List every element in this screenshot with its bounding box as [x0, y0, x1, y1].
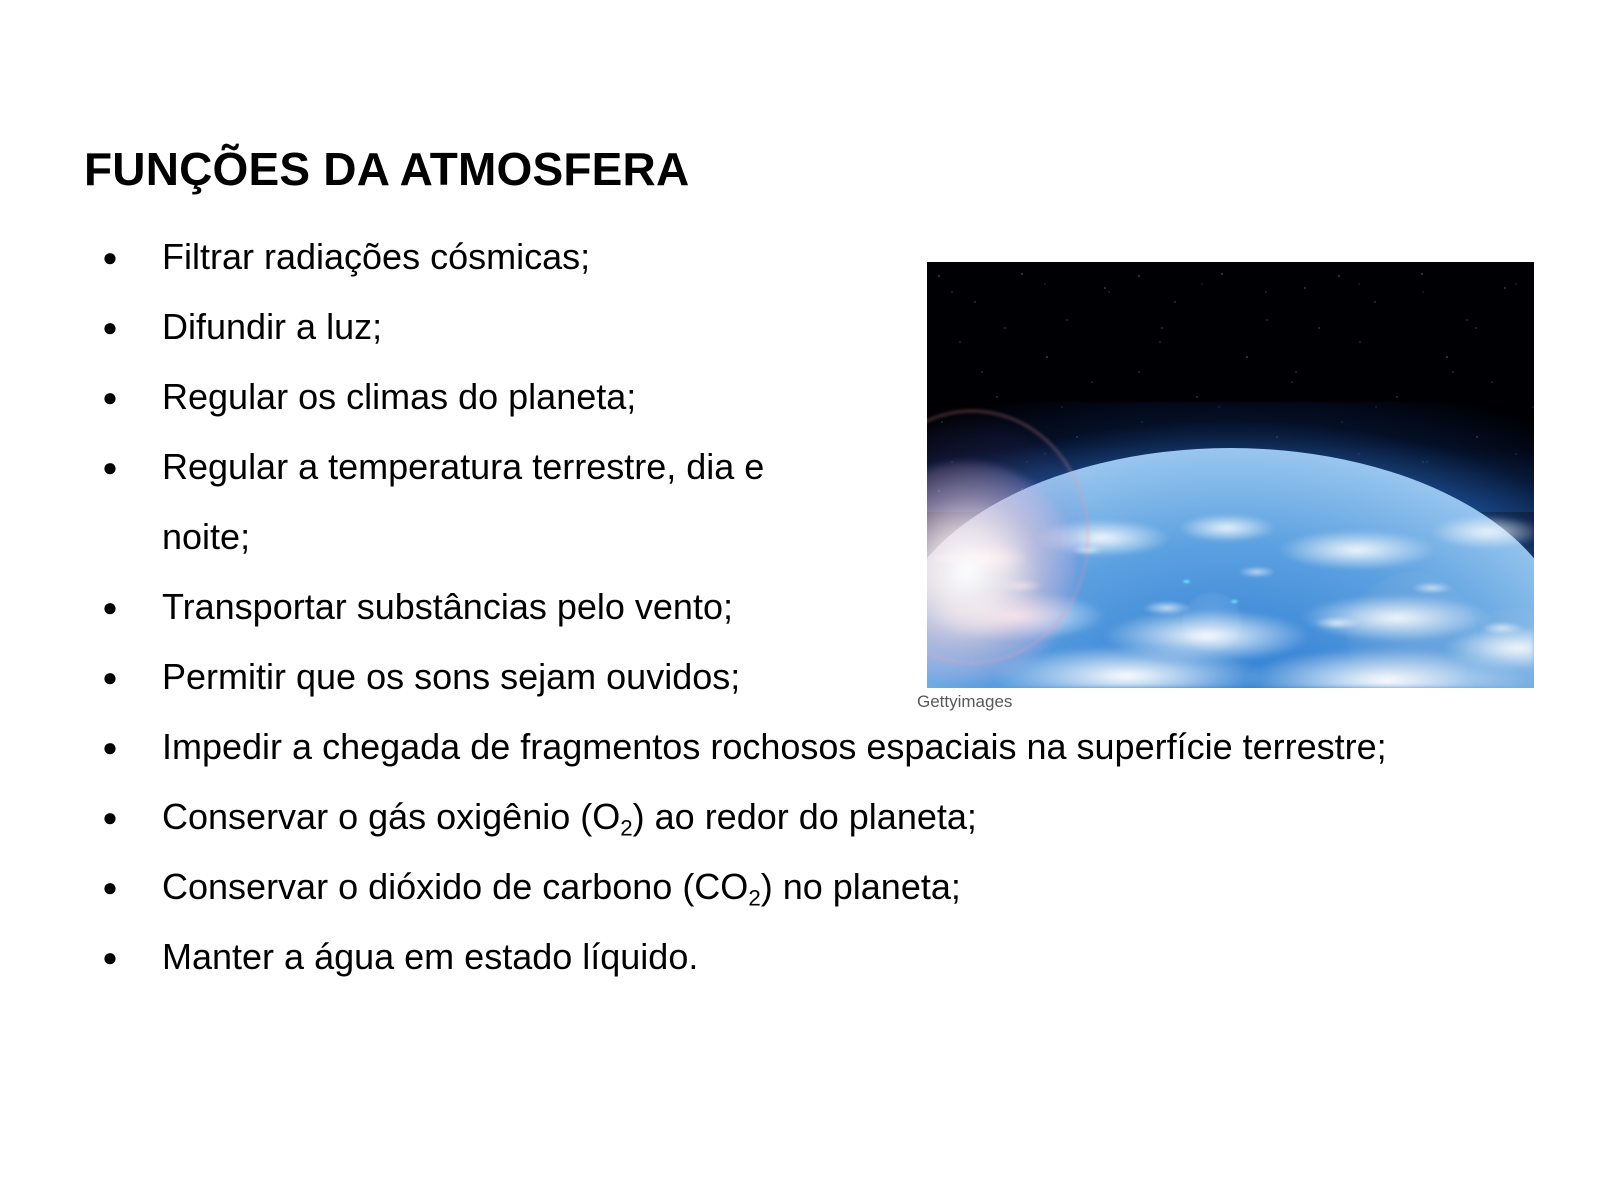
bullet-dot-icon: ●: [102, 432, 118, 502]
figure-caption: Gettyimages: [917, 692, 1012, 712]
bullet-dot-icon: ●: [102, 292, 118, 362]
page-title: FUNÇÕES DA ATMOSFERA: [84, 144, 689, 195]
bullet-dot-icon: ●: [102, 782, 118, 852]
list-item-label: Regular a temperatura terrestre, dia e n…: [162, 432, 862, 572]
bullet-dot-icon: ●: [102, 362, 118, 432]
bullet-dot-icon: ●: [102, 852, 118, 922]
list-item-label: Filtrar radiações cósmicas;: [162, 222, 862, 292]
list-item-label: Transportar substâncias pelo vento;: [162, 572, 802, 642]
list-item-label: Impedir a chegada de fragmentos rochosos…: [162, 712, 1416, 782]
figure-earth-atmosphere: Gettyimages: [927, 262, 1534, 688]
slide-canvas: FUNÇÕES DA ATMOSFERA ●Filtrar radiações …: [0, 0, 1600, 1200]
light-spark-1: [1183, 580, 1190, 583]
list-item-label: Conservar o dióxido de carbono (CO2) no …: [162, 852, 1416, 922]
list-item-label: Conservar o gás oxigênio (O2) ao redor d…: [162, 782, 1416, 852]
bullet-dot-icon: ●: [102, 712, 118, 782]
list-item: ●Conservar o dióxido de carbono (CO2) no…: [96, 852, 1416, 922]
list-item: ●Manter a água em estado líquido.: [96, 922, 1416, 992]
earth-atmosphere-image: [927, 262, 1534, 688]
list-item: ●Conservar o gás oxigênio (O2) ao redor …: [96, 782, 1416, 852]
list-item-label: Difundir a luz;: [162, 292, 862, 362]
bullet-dot-icon: ●: [102, 642, 118, 712]
bullet-dot-icon: ●: [102, 572, 118, 642]
bullet-dot-icon: ●: [102, 222, 118, 292]
list-item: ●Impedir a chegada de fragmentos rochoso…: [96, 712, 1416, 782]
light-spark-2: [1231, 600, 1238, 603]
list-item-label: Regular os climas do planeta;: [162, 362, 862, 432]
bullet-dot-icon: ●: [102, 922, 118, 992]
list-item-label: Manter a água em estado líquido.: [162, 922, 1416, 992]
